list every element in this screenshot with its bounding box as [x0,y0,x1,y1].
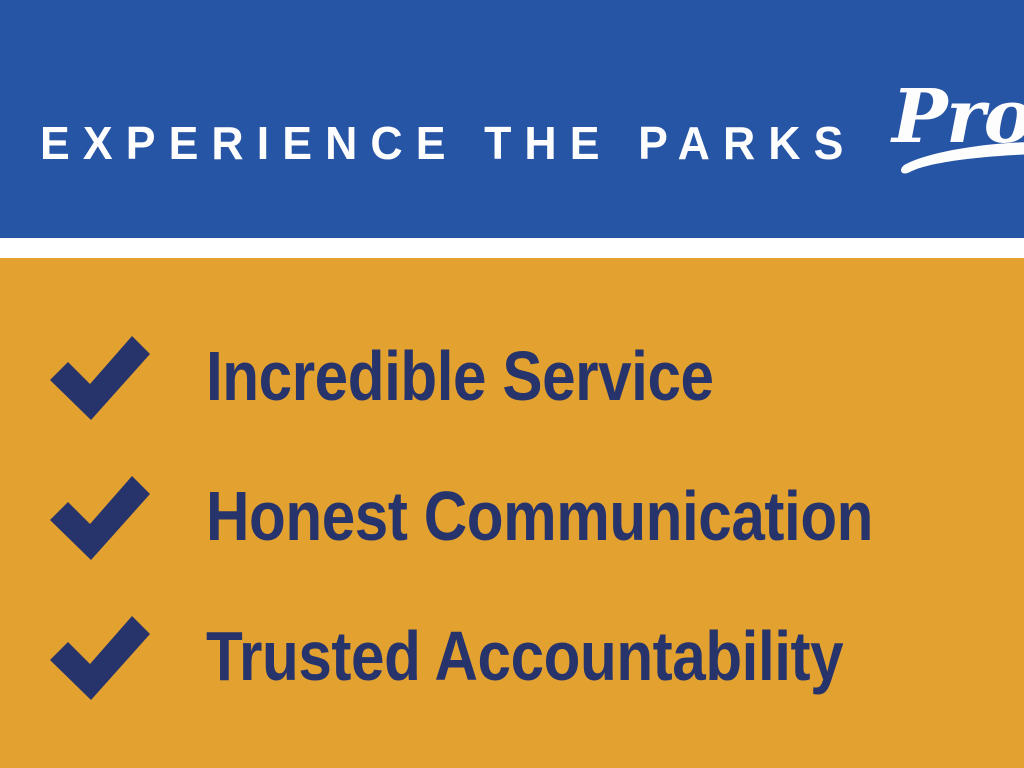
headline-script-word: Promise [886,68,1024,184]
promise-list: Incredible Service Honest Communication … [0,258,1024,768]
check-icon [46,470,154,562]
list-item: Trusted Accountability [46,602,1006,710]
divider-gap [0,238,1024,258]
check-icon [46,330,154,422]
list-item: Incredible Service [46,322,1006,430]
list-item: Honest Communication [46,462,1006,570]
headline: EXPERIENCE THE PARKS Promise [40,86,1024,166]
promise-label: Trusted Accountability [206,620,843,692]
header-band: EXPERIENCE THE PARKS Promise [0,0,1024,238]
promise-label: Incredible Service [206,340,714,412]
promise-label: Honest Communication [206,480,873,552]
promise-graphic: EXPERIENCE THE PARKS Promise Incredible [0,0,1024,768]
promise-panel: Incredible Service Honest Communication … [0,258,1024,768]
check-icon [46,610,154,702]
headline-caps-text: EXPERIENCE THE PARKS [40,120,856,166]
